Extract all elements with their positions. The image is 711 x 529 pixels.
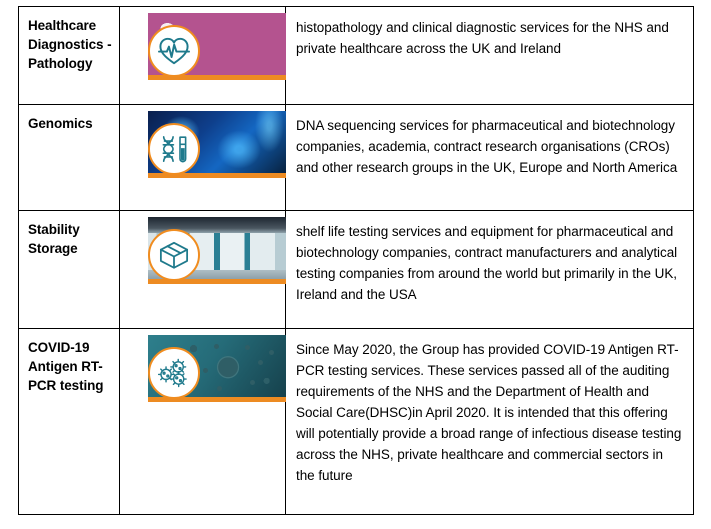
service-image-cell bbox=[120, 211, 286, 329]
service-description-cell: histopathology and clinical diagnostic s… bbox=[286, 7, 694, 105]
table-row: COVID-19 Antigen RT-PCR testing bbox=[19, 329, 694, 515]
service-image-cell bbox=[120, 329, 286, 515]
service-description-text: histopathology and clinical diagnostic s… bbox=[286, 7, 693, 69]
service-name-cell: Genomics bbox=[19, 105, 120, 211]
dna-helix-photo bbox=[148, 111, 286, 178]
storage-chambers-photo bbox=[148, 217, 286, 284]
table-row: Genomics bbox=[19, 105, 694, 211]
pathology-tissue-photo bbox=[148, 13, 286, 80]
service-description-text: DNA sequencing services for pharmaceutic… bbox=[286, 105, 693, 188]
table-row: Stability Storage bbox=[19, 211, 694, 329]
dna-test-tube-icon bbox=[148, 123, 200, 175]
service-description-cell: Since May 2020, the Group has provided C… bbox=[286, 329, 694, 515]
service-name-label: COVID-19 Antigen RT-PCR testing bbox=[19, 329, 119, 405]
service-image-cell bbox=[120, 105, 286, 211]
services-table: Healthcare Diagnostics - Pathology bbox=[18, 6, 694, 515]
coronavirus-photo bbox=[148, 335, 286, 402]
service-name-cell: COVID-19 Antigen RT-PCR testing bbox=[19, 329, 120, 515]
service-description-text: Since May 2020, the Group has provided C… bbox=[286, 329, 693, 496]
package-box-icon bbox=[148, 229, 200, 281]
service-name-label: Healthcare Diagnostics - Pathology bbox=[19, 7, 119, 83]
service-description-cell: shelf life testing services and equipmen… bbox=[286, 211, 694, 329]
virus-cluster-icon bbox=[148, 347, 200, 399]
service-name-label: Genomics bbox=[19, 105, 119, 143]
service-image-cell bbox=[120, 7, 286, 105]
service-name-cell: Stability Storage bbox=[19, 211, 120, 329]
heartbeat-icon bbox=[148, 25, 200, 77]
document-page: Healthcare Diagnostics - Pathology bbox=[0, 0, 711, 529]
service-name-cell: Healthcare Diagnostics - Pathology bbox=[19, 7, 120, 105]
table-row: Healthcare Diagnostics - Pathology bbox=[19, 7, 694, 105]
service-description-text: shelf life testing services and equipmen… bbox=[286, 211, 693, 315]
service-name-label: Stability Storage bbox=[19, 211, 119, 268]
service-description-cell: DNA sequencing services for pharmaceutic… bbox=[286, 105, 694, 211]
